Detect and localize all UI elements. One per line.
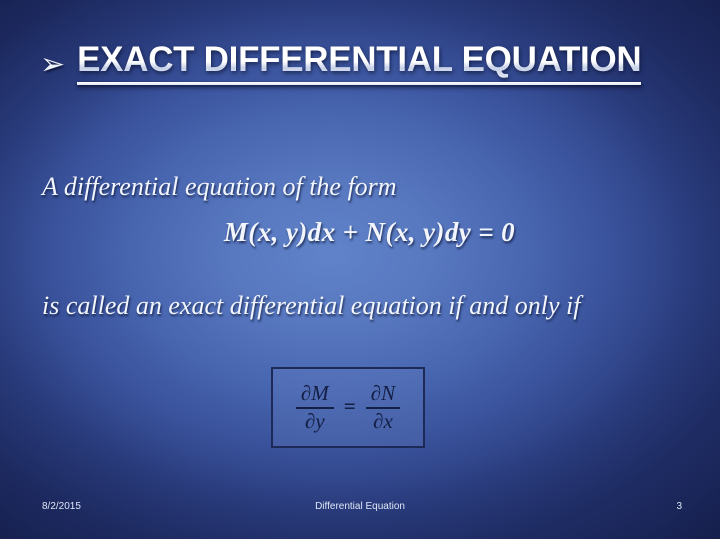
- slide-body: A differential equation of the form M(x,…: [42, 172, 687, 321]
- fraction-dM-dy: ∂M ∂y: [296, 383, 334, 433]
- general-form-equation: M(x, y)dx + N(x, y)dy = 0: [42, 217, 687, 248]
- definition-intro-line: A differential equation of the form: [42, 172, 687, 203]
- exactness-condition-line: is called an exact differential equation…: [42, 290, 690, 322]
- fraction-numerator: ∂N: [366, 383, 400, 405]
- presentation-slide: ➢ EXACT DIFFERENTIAL EQUATION A differen…: [0, 0, 720, 539]
- equals-sign: =: [344, 394, 356, 421]
- footer-title: Differential Equation: [0, 501, 720, 512]
- partial-derivative-equation: ∂M ∂y = ∂N ∂x: [296, 383, 400, 433]
- arrowhead-bullet-icon: ➢: [40, 50, 65, 80]
- slide-title-row: ➢ EXACT DIFFERENTIAL EQUATION: [40, 40, 690, 85]
- fraction-numerator: ∂M: [296, 383, 334, 405]
- fraction-denominator: ∂y: [300, 411, 330, 433]
- title-underline: [77, 82, 641, 85]
- slide-footer: 8/2/2015 Differential Equation 3: [0, 501, 720, 517]
- partial-derivative-equation-box: ∂M ∂y = ∂N ∂x: [271, 367, 425, 448]
- page-title: EXACT DIFFERENTIAL EQUATION: [77, 40, 641, 85]
- slide-number: 3: [676, 501, 682, 512]
- fraction-dN-dx: ∂N ∂x: [366, 383, 400, 433]
- fraction-denominator: ∂x: [368, 411, 398, 433]
